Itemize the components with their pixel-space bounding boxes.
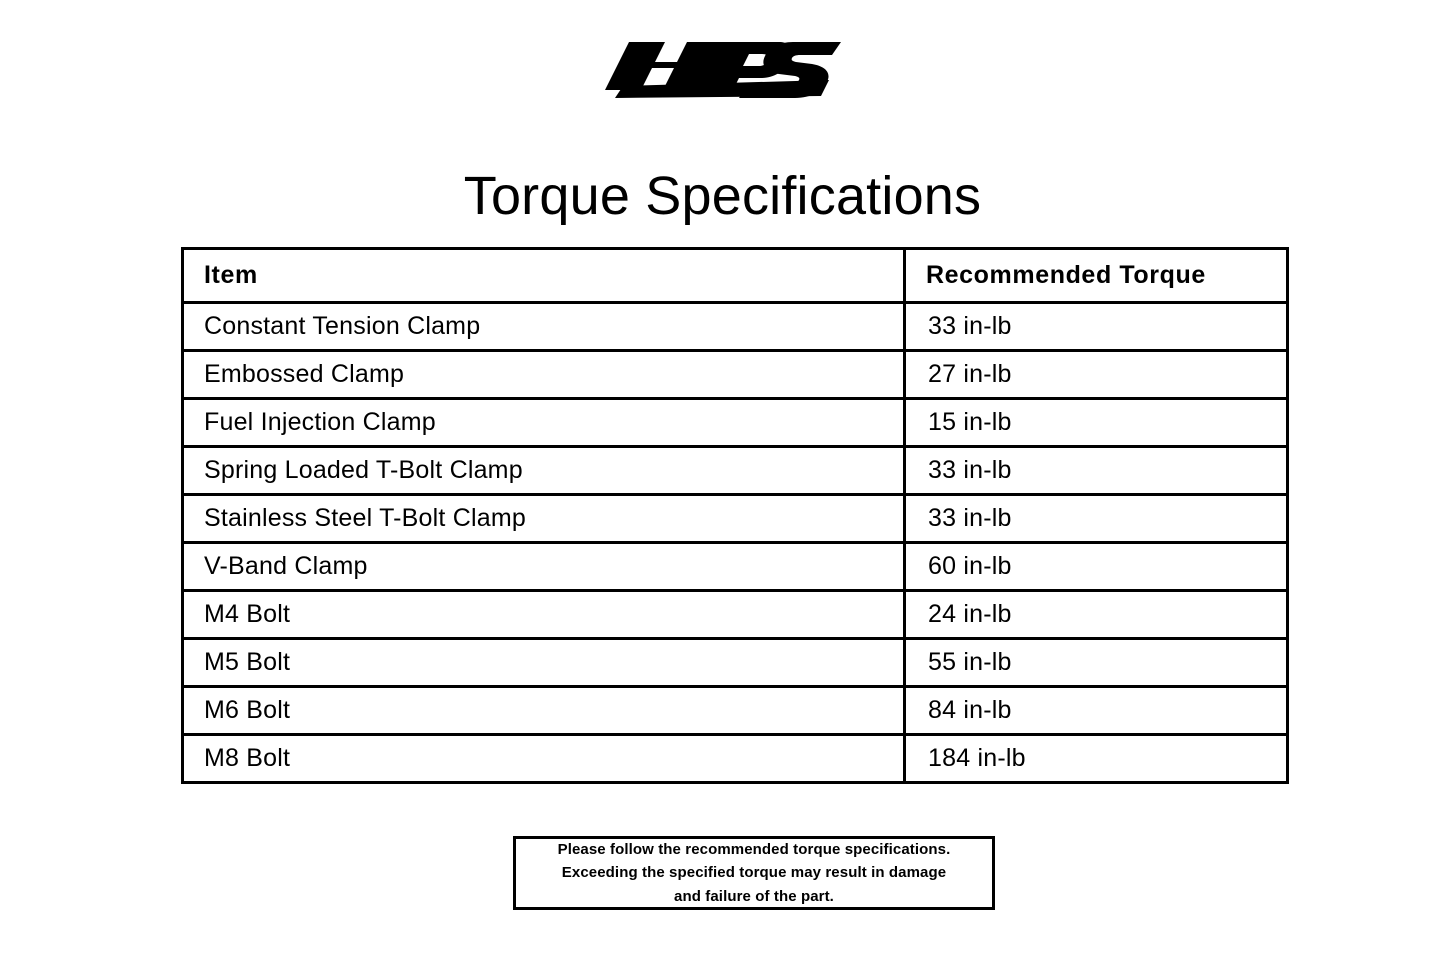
table-row: Constant Tension Clamp 33 in-lb	[183, 303, 1288, 351]
cell-item: Embossed Clamp	[183, 351, 905, 399]
cell-item: M8 Bolt	[183, 735, 905, 783]
brand-logo	[0, 36, 1445, 106]
cell-torque: 24 in-lb	[905, 591, 1288, 639]
cell-torque: 184 in-lb	[905, 735, 1288, 783]
table-row: Spring Loaded T-Bolt Clamp 33 in-lb	[183, 447, 1288, 495]
cell-item: Stainless Steel T-Bolt Clamp	[183, 495, 905, 543]
table-header-row: Item Recommended Torque	[183, 249, 1288, 303]
column-header-torque: Recommended Torque	[905, 249, 1288, 303]
cell-item: V-Band Clamp	[183, 543, 905, 591]
column-header-torque-label: Recommended Torque	[906, 261, 1286, 290]
torque-spec-table-container: Item Recommended Torque Constant Tension…	[181, 247, 1286, 784]
cell-item: M6 Bolt	[183, 687, 905, 735]
column-header-item: Item	[183, 249, 905, 303]
table-row: Fuel Injection Clamp 15 in-lb	[183, 399, 1288, 447]
table-row: Stainless Steel T-Bolt Clamp 33 in-lb	[183, 495, 1288, 543]
cell-torque: 84 in-lb	[905, 687, 1288, 735]
cell-torque: 27 in-lb	[905, 351, 1288, 399]
cell-item: M4 Bolt	[183, 591, 905, 639]
table-row: V-Band Clamp 60 in-lb	[183, 543, 1288, 591]
table-row: Embossed Clamp 27 in-lb	[183, 351, 1288, 399]
cell-torque: 33 in-lb	[905, 303, 1288, 351]
cell-torque: 33 in-lb	[905, 447, 1288, 495]
warning-note-box: Please follow the recommended torque spe…	[513, 836, 995, 910]
cell-torque: 60 in-lb	[905, 543, 1288, 591]
table-row: M8 Bolt 184 in-lb	[183, 735, 1288, 783]
cell-torque: 55 in-lb	[905, 639, 1288, 687]
cell-torque: 15 in-lb	[905, 399, 1288, 447]
cell-item: Fuel Injection Clamp	[183, 399, 905, 447]
cell-item: M5 Bolt	[183, 639, 905, 687]
cell-item: Spring Loaded T-Bolt Clamp	[183, 447, 905, 495]
warning-note-line: Exceeding the specified torque may resul…	[562, 861, 946, 884]
table-row: M6 Bolt 84 in-lb	[183, 687, 1288, 735]
warning-note-line: and failure of the part.	[674, 885, 834, 908]
column-header-item-label: Item	[184, 261, 903, 290]
warning-note-line: Please follow the recommended torque spe…	[558, 838, 951, 861]
cell-torque: 33 in-lb	[905, 495, 1288, 543]
hps-wordmark-logo	[603, 36, 843, 102]
table-row: M4 Bolt 24 in-lb	[183, 591, 1288, 639]
cell-item: Constant Tension Clamp	[183, 303, 905, 351]
page-title: Torque Specifications	[0, 168, 1445, 225]
torque-spec-table: Item Recommended Torque Constant Tension…	[181, 247, 1289, 784]
table-row: M5 Bolt 55 in-lb	[183, 639, 1288, 687]
